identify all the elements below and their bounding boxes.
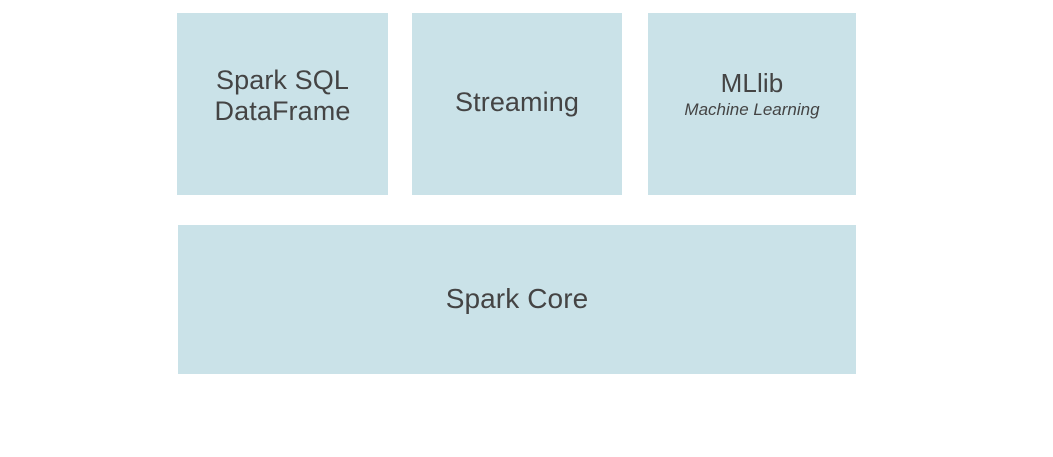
box-title-spark-sql: Spark SQL DataFrame — [215, 65, 351, 128]
box-title-line-1: Streaming — [455, 87, 579, 118]
component-box-streaming[interactable]: Streaming — [412, 13, 622, 195]
component-box-mllib[interactable]: MLlib Machine Learning — [648, 13, 856, 195]
box-title-line-1: MLlib — [721, 68, 784, 98]
component-box-spark-sql[interactable]: Spark SQL DataFrame — [177, 13, 388, 195]
box-title-line-2: DataFrame — [215, 96, 351, 127]
box-title-line-1: Spark Core — [446, 283, 589, 315]
spark-stack-diagram: Spark SQL DataFrame Streaming MLlib Mach… — [0, 0, 1053, 457]
box-title-mllib: MLlib — [721, 68, 784, 98]
box-title-streaming: Streaming — [455, 87, 579, 118]
box-title-spark-core: Spark Core — [446, 283, 589, 315]
foundation-box-spark-core[interactable]: Spark Core — [178, 225, 856, 374]
box-subtitle-mllib: Machine Learning — [684, 100, 819, 120]
box-title-line-1: Spark SQL — [215, 65, 351, 96]
